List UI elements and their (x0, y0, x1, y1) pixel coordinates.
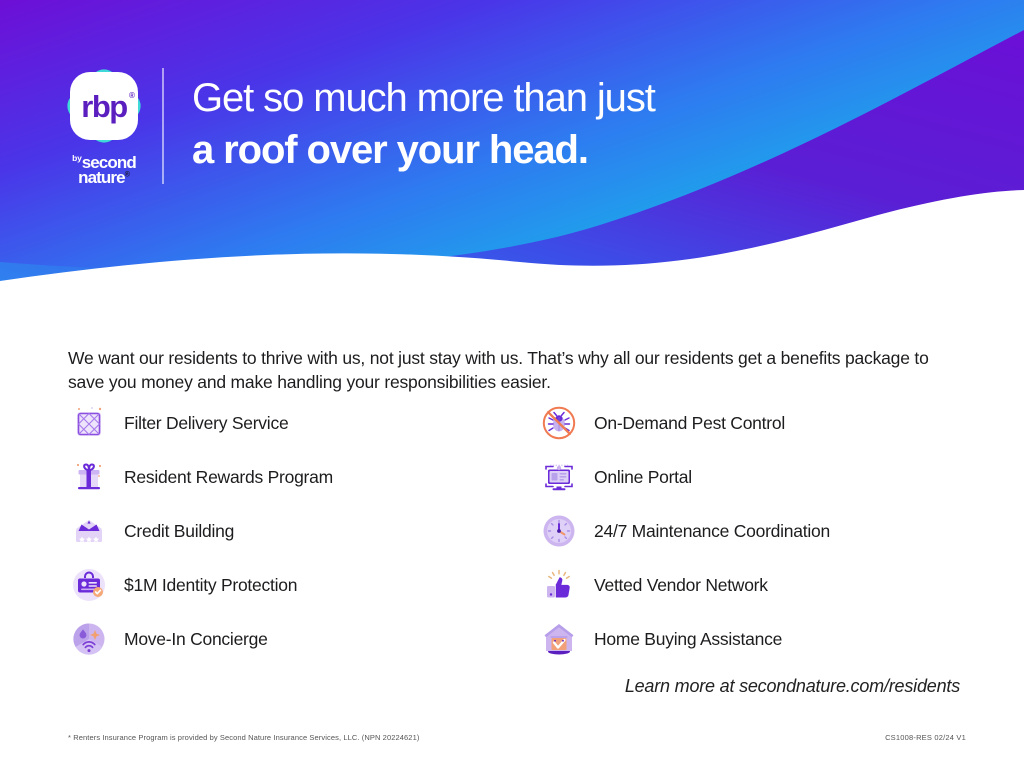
monitor-icon (538, 456, 580, 498)
logo-byline-word2: nature (78, 168, 125, 187)
benefit-item-online-portal: Online Portal (538, 450, 968, 504)
benefits-column-left: Filter Delivery Service Resident Rewards… (68, 396, 538, 666)
id-badge-shield-icon (68, 564, 110, 606)
benefit-item-pest-control: On-Demand Pest Control (538, 396, 968, 450)
benefit-label: Filter Delivery Service (124, 413, 288, 434)
intro-paragraph: We want our residents to thrive with us,… (68, 346, 938, 394)
headline-line-1: Get so much more than just (192, 72, 952, 124)
benefit-label: Online Portal (594, 467, 692, 488)
footer-document-code: CS1008-RES 02/24 V1 (885, 733, 966, 742)
logo-byline-prefix: by (72, 153, 82, 163)
thumbs-up-icon (538, 564, 580, 606)
benefit-label: On-Demand Pest Control (594, 413, 785, 434)
benefit-item-resident-rewards-program: Resident Rewards Program (68, 450, 538, 504)
svg-text:rbp: rbp (81, 89, 127, 124)
house-check-icon (538, 618, 580, 660)
benefit-item-home-buying-assistance: Home Buying Assistance (538, 612, 968, 666)
headline-line-2: a roof over your head. (192, 124, 952, 176)
logo-byline-registered: ® (125, 172, 130, 179)
benefit-label: Credit Building (124, 521, 234, 542)
benefit-label: Vetted Vendor Network (594, 575, 768, 596)
benefit-item-move-in-concierge: Move-In Concierge (68, 612, 538, 666)
benefit-label: Home Buying Assistance (594, 629, 782, 650)
gift-icon (68, 456, 110, 498)
benefit-item-vetted-vendor-network: Vetted Vendor Network (538, 558, 968, 612)
benefit-item-credit-building: Credit Building (68, 504, 538, 558)
benefit-item-maintenance-coordination: 24/7 Maintenance Coordination (538, 504, 968, 558)
benefit-item-identity-protection: $1M Identity Protection (68, 558, 538, 612)
benefit-item-filter-delivery-service: Filter Delivery Service (68, 396, 538, 450)
benefit-label: Move-In Concierge (124, 629, 268, 650)
learn-more-text: Learn more at secondnature.com/residents (0, 676, 960, 697)
rbp-logo: rbp ® bysecond nature® (56, 62, 152, 187)
benefit-label: $1M Identity Protection (124, 575, 297, 596)
hero-divider (162, 68, 164, 184)
clock-icon (538, 510, 580, 552)
benefit-label: 24/7 Maintenance Coordination (594, 521, 830, 542)
benefit-label: Resident Rewards Program (124, 467, 333, 488)
hero-banner: rbp ® bysecond nature® Get so much more … (0, 0, 1024, 300)
hero-headline: Get so much more than just a roof over y… (192, 72, 952, 176)
footer-disclaimer: * Renters Insurance Program is provided … (68, 733, 419, 742)
no-bug-icon (538, 402, 580, 444)
svg-text:®: ® (129, 91, 135, 100)
crown-stars-icon (68, 510, 110, 552)
rbp-logo-mark: rbp ® (60, 62, 148, 150)
utilities-circle-icon (68, 618, 110, 660)
air-filter-icon (68, 402, 110, 444)
benefits-column-right: On-Demand Pest Control Online (538, 396, 968, 666)
rbp-logo-byline: bysecond nature® (56, 154, 152, 187)
benefits-section: Filter Delivery Service Resident Rewards… (68, 396, 968, 666)
